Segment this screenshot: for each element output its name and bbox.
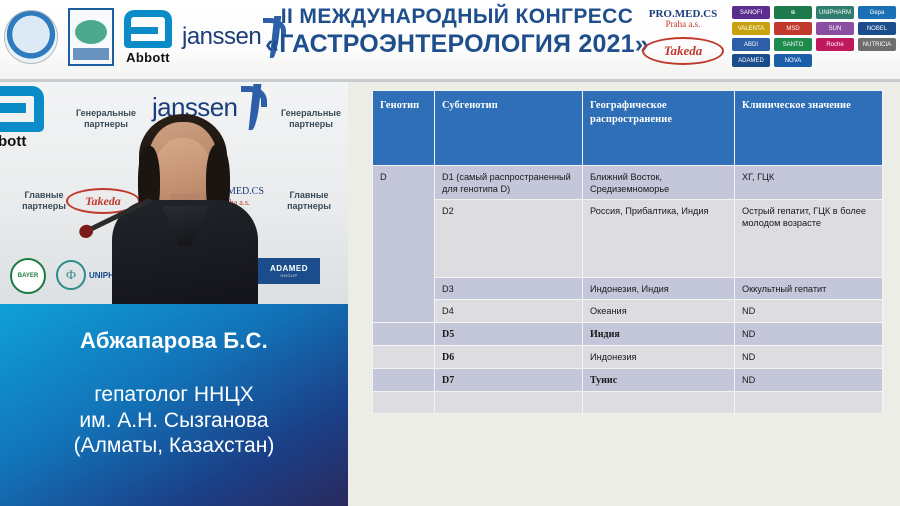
abbott-mark-icon	[0, 86, 44, 132]
promedcs-line2: Praha a.s.	[666, 20, 701, 30]
sponsor-logo: ⊕	[774, 6, 812, 19]
sponsor-logo-grid: SANOFI ⊕ UNIPHARM Gepa VALENTA MSD SUN N…	[732, 6, 896, 67]
main-partners-line2: партнеры	[272, 201, 346, 212]
table-row: D D1 (самый распространенный для генотип…	[373, 166, 883, 200]
cell-clinical: ND	[735, 345, 883, 368]
ministry-emblem-logo-icon	[4, 10, 58, 64]
cell-empty	[583, 392, 735, 414]
sponsor-logo: NOBEL	[858, 22, 896, 35]
cell-geography: Ближний Восток, Средиземноморье	[583, 166, 735, 200]
speaker-name: Абжапарова Б.С.	[0, 328, 348, 354]
cell-clinical: Острый гепатит, ГЦК в более молодом возр…	[735, 200, 883, 278]
main-partners-line1: Главные	[272, 190, 346, 201]
sponsor-logo: MSD	[774, 22, 812, 35]
sponsor-logo: SANOFI	[732, 6, 770, 19]
cell-genotype-merged: D	[373, 166, 435, 323]
abbott-wordmark: Abbott	[126, 50, 170, 65]
cell-clinical: ХГ, ГЦК	[735, 166, 883, 200]
sponsor-logo: Roche	[816, 38, 854, 51]
sponsor-logo: NOVA	[774, 54, 812, 67]
cell-geography: Индия	[583, 322, 735, 345]
sponsor-logo: VALENTA	[732, 22, 770, 35]
sponsor-logo: ADAMED	[732, 54, 770, 67]
adamed-wordmark: ADAMED	[270, 264, 308, 273]
column-header-geography: Географическое распространение	[583, 91, 735, 166]
cell-subgenotype: D2	[435, 200, 583, 278]
table-row: D7 Тунис ND	[373, 368, 883, 391]
column-header-genotype: Генотип	[373, 91, 435, 166]
takeda-logo-icon: Takeda	[642, 37, 724, 65]
table-header-row: Генотип Субгенотип Географическое распро…	[373, 91, 883, 166]
presentation-slide-pane: Генотип Субгенотип Географическое распро…	[348, 82, 900, 506]
cell-clinical: ND	[735, 300, 883, 322]
table-row: D4 Океания ND	[373, 300, 883, 322]
cell-genotype-empty	[373, 322, 435, 345]
speaker-role-line3: (Алматы, Казахстан)	[0, 433, 348, 459]
banner-title: II МЕЖДУНАРОДНЫЙ КОНГРЕСС «ГАСТРОЭНТЕРОЛ…	[262, 6, 652, 57]
abbott-mark-icon	[124, 10, 172, 48]
cell-subgenotype: D1 (самый распространенный для генотипа …	[435, 166, 583, 200]
column-header-clinical: Клиническое значение	[735, 91, 883, 166]
speaker-role: гепатолог ННЦХ им. А.Н. Сызганова (Алмат…	[0, 382, 348, 459]
general-partners-line1: Генеральные	[272, 108, 348, 119]
sponsor-logo: SUN	[816, 22, 854, 35]
cell-geography: Тунис	[583, 368, 735, 391]
cell-subgenotype: D4	[435, 300, 583, 322]
cell-empty	[735, 392, 883, 414]
institute-book-logo-icon	[68, 8, 114, 66]
table-row: D2 Россия, Прибалтика, Индия Острый гепа…	[373, 200, 883, 278]
table-row: D3 Индонезия, Индия Оккультный гепатит	[373, 278, 883, 300]
main-partners-label-right: Главные партнеры	[272, 190, 346, 213]
promedcs-logo-icon: PRO.MED.CS Praha a.s.	[649, 8, 717, 30]
genotype-table: Генотип Субгенотип Географическое распро…	[372, 90, 883, 414]
backdrop-abbott-logo-icon: Abbott	[0, 86, 44, 150]
sponsor-logo: NUTRICIA	[858, 38, 896, 51]
sponsor-logo: SANTO	[774, 38, 812, 51]
adamed-subtext: GROUP	[280, 273, 297, 278]
abbott-logo-icon: Abbott	[124, 10, 172, 65]
cell-genotype-empty	[373, 345, 435, 368]
adamed-logo-icon: ADAMED GROUP	[258, 258, 320, 284]
janssen-wordmark: janssen	[182, 23, 261, 51]
sponsor-logo: UNIPHARM	[816, 6, 854, 19]
cell-subgenotype: D3	[435, 278, 583, 300]
cell-geography: Индонезия, Индия	[583, 278, 735, 300]
screenshot-root: Abbott janssen II МЕЖДУНАРОДНЫЙ КОНГРЕСС…	[0, 0, 900, 506]
table-row-spacer	[373, 392, 883, 414]
banner-left-logos: Abbott janssen	[4, 8, 287, 66]
speaker-caption-panel: Абжапарова Б.С. гепатолог ННЦХ им. А.Н. …	[0, 304, 348, 506]
speaker-role-line2: им. А.Н. Сызганова	[0, 408, 348, 434]
banner-title-line1: II МЕЖДУНАРОДНЫЙ КОНГРЕСС	[262, 6, 652, 28]
column-header-subgenotype: Субгенотип	[435, 91, 583, 166]
cell-subgenotype: D5	[435, 322, 583, 345]
banner-title-line2: «ГАСТРОЭНТЕРОЛОГИЯ 2021»	[262, 31, 652, 57]
speaker-figure	[118, 122, 250, 308]
conference-backdrop: Abbott Генеральные партнеры janssen Гене…	[0, 82, 348, 304]
general-partners-label-right: Генеральные партнеры	[272, 108, 348, 131]
cell-clinical: ND	[735, 368, 883, 391]
bayer-logo-icon: BAYER	[10, 258, 46, 294]
general-partners-line2: партнеры	[272, 119, 348, 130]
general-partners-line1: Генеральные	[60, 108, 152, 119]
sponsor-logo: ABDI	[732, 38, 770, 51]
video-player-pane[interactable]: Abbott Генеральные партнеры janssen Гене…	[0, 82, 348, 506]
cell-empty	[435, 392, 583, 414]
cell-geography: Индонезия	[583, 345, 735, 368]
banner-right-logos: PRO.MED.CS Praha a.s. Takeda SANOFI ⊕ UN…	[642, 6, 896, 67]
cell-genotype-empty	[373, 368, 435, 391]
cell-geography: Океания	[583, 300, 735, 322]
cell-subgenotype: D7	[435, 368, 583, 391]
congress-banner: Abbott janssen II МЕЖДУНАРОДНЫЙ КОНГРЕСС…	[0, 0, 900, 82]
abbott-wordmark: Abbott	[0, 133, 44, 150]
cell-clinical: ND	[735, 322, 883, 345]
cell-geography: Россия, Прибалтика, Индия	[583, 200, 735, 278]
cell-subgenotype: D6	[435, 345, 583, 368]
cell-clinical: Оккультный гепатит	[735, 278, 883, 300]
table-row: D6 Индонезия ND	[373, 345, 883, 368]
cell-empty	[373, 392, 435, 414]
table-row: D5 Индия ND	[373, 322, 883, 345]
sponsor-logo: Gepa	[858, 6, 896, 19]
speaker-role-line1: гепатолог ННЦХ	[0, 382, 348, 408]
promedcs-line1: PRO.MED.CS	[649, 8, 717, 20]
unipharm-mark-icon: Ф	[56, 260, 86, 290]
